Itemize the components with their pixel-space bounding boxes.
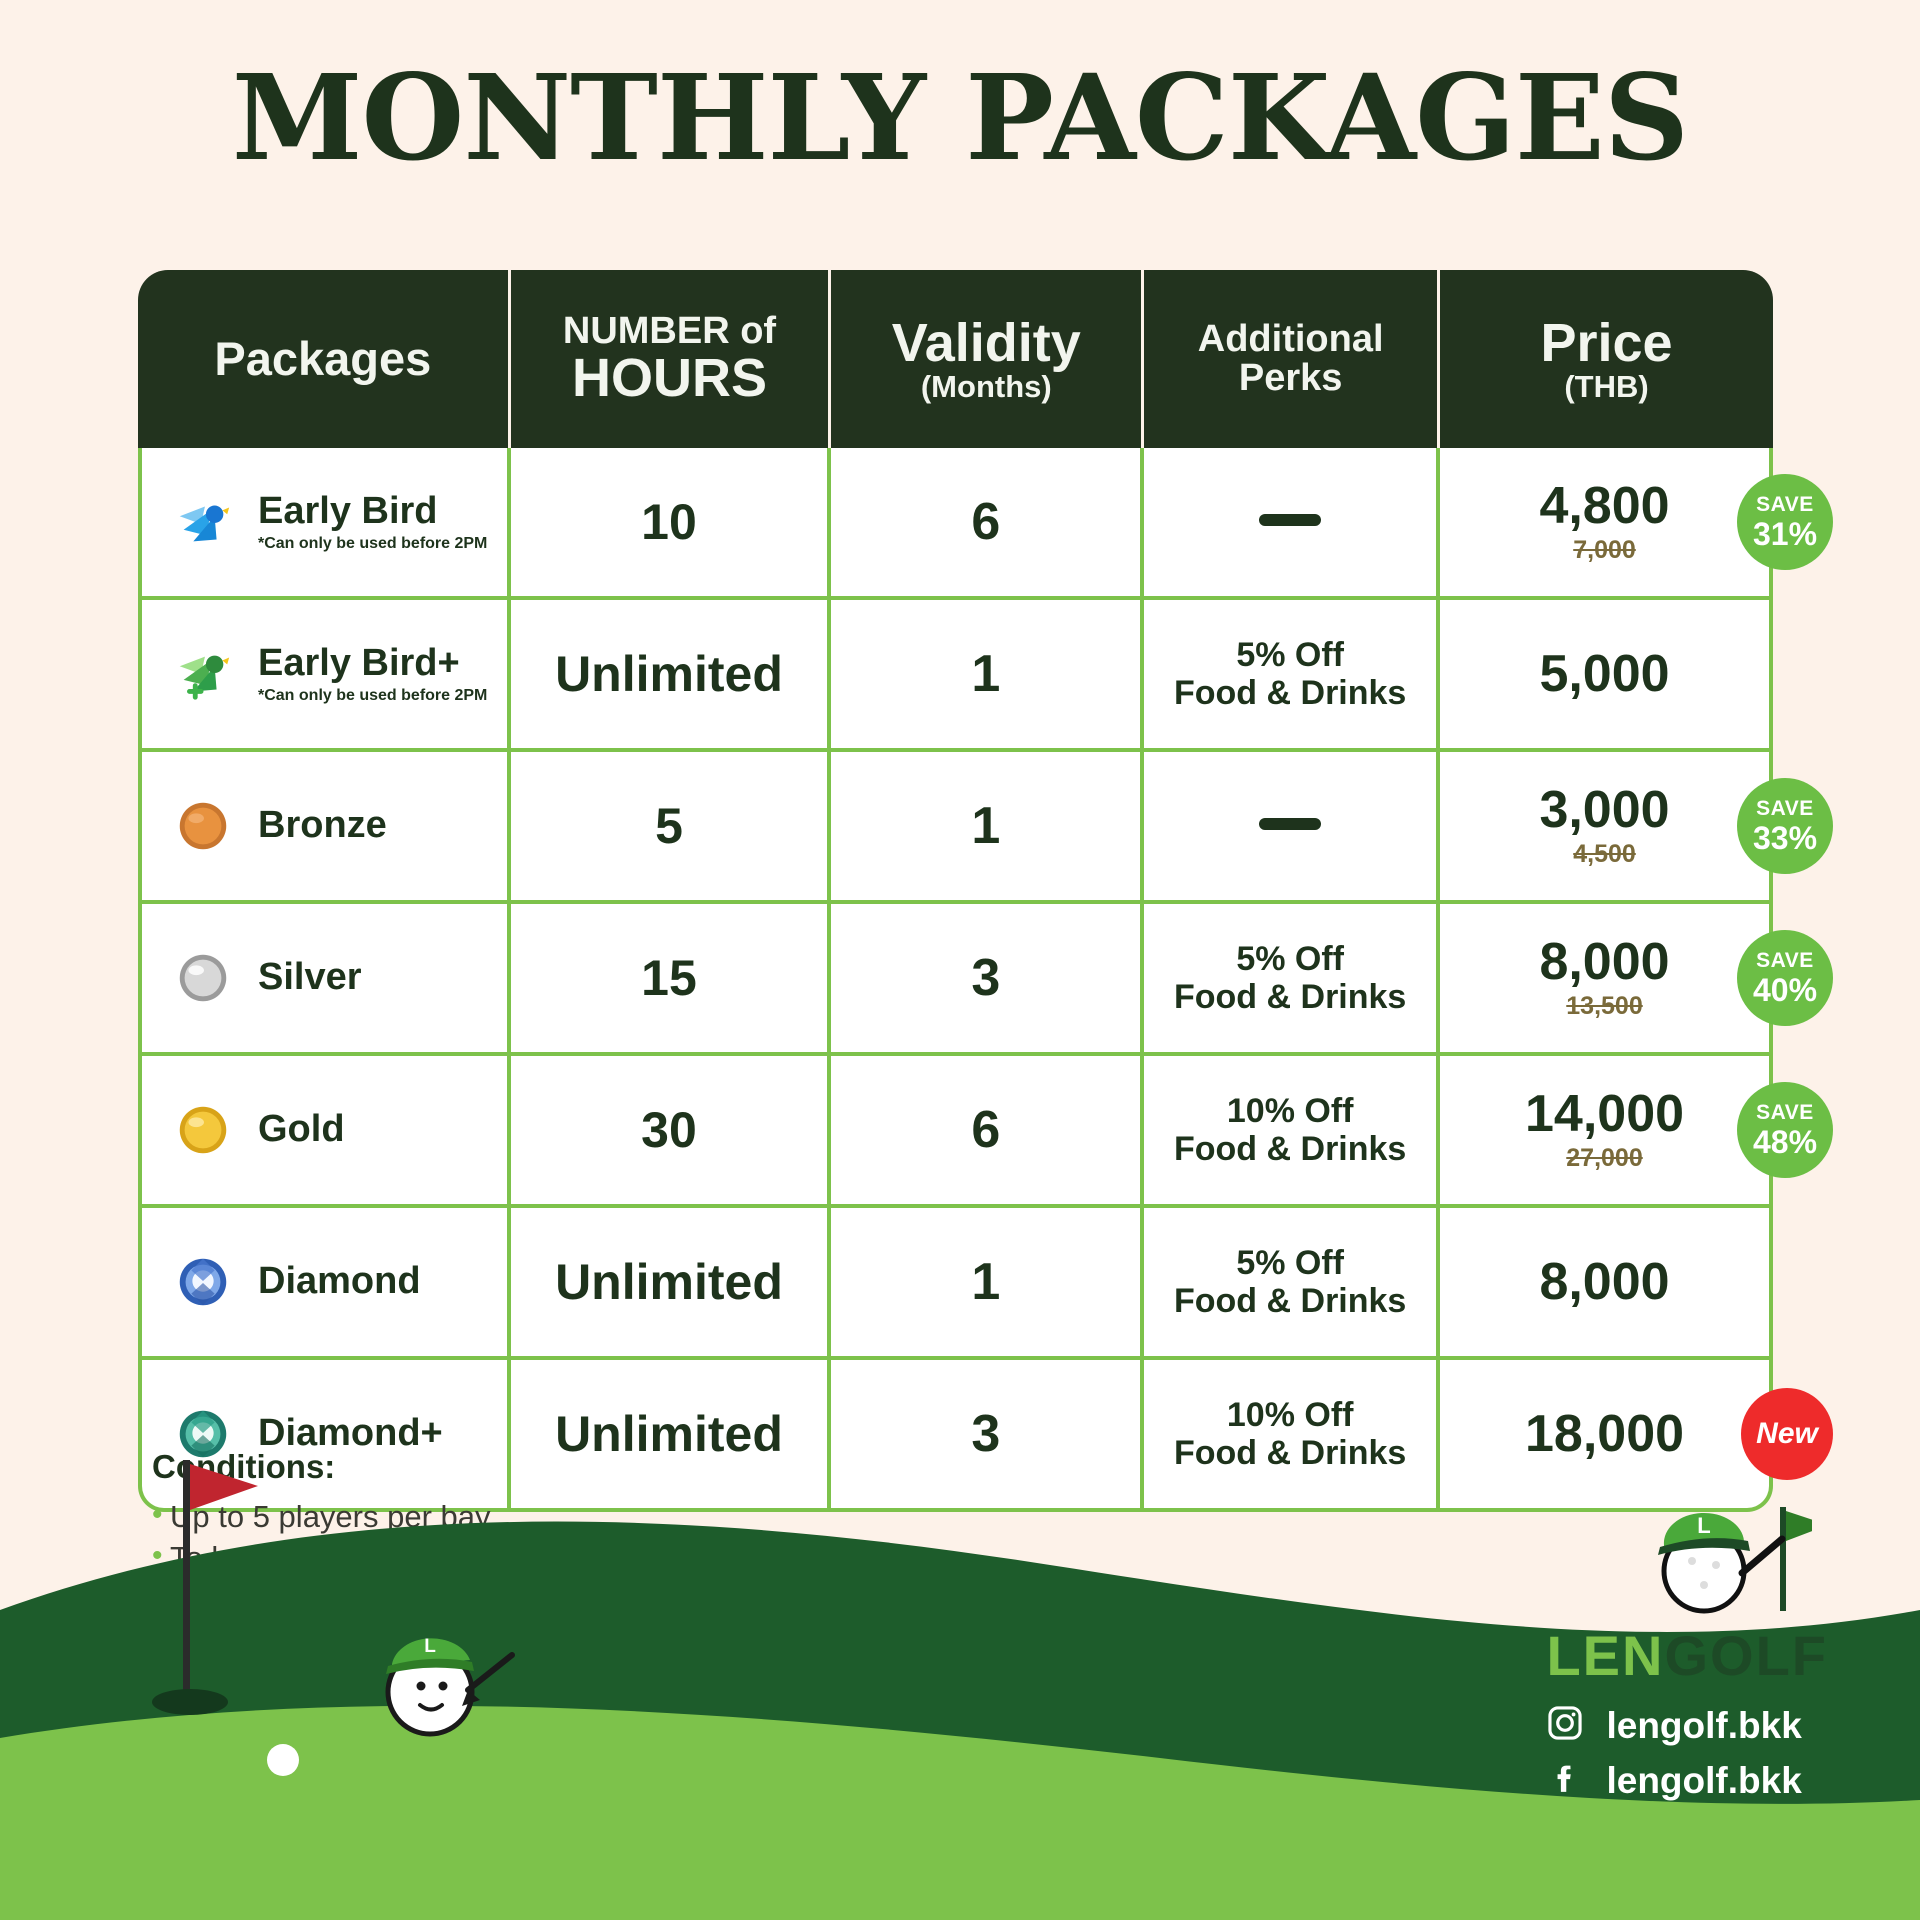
package-name: Early Bird+	[258, 643, 487, 685]
package-name-block: Silver	[258, 957, 362, 999]
price-value: 8,000	[1440, 935, 1769, 990]
perk-scope: Food & Drinks	[1144, 1130, 1436, 1168]
cell-price: 3,0004,500SAVE33%	[1440, 752, 1773, 904]
medal-bronze-icon	[172, 795, 234, 857]
price-value: 8,000	[1440, 1255, 1769, 1310]
package-name: Diamond	[258, 1261, 421, 1303]
table-row: Bronze513,0004,500SAVE33%	[138, 752, 1773, 904]
package-name-block: Gold	[258, 1109, 345, 1151]
svg-text:L: L	[424, 1636, 436, 1657]
package-name-block: Diamond	[258, 1261, 421, 1303]
cell-validity: 3	[831, 904, 1144, 1056]
cell-package: Early Bird*Can only be used before 2PM	[138, 448, 511, 600]
header-validity-label: Validity	[831, 316, 1141, 371]
bird-green-icon	[172, 643, 234, 705]
cell-perks: 5% OffFood & Drinks	[1144, 904, 1440, 1056]
header-hours: NUMBER of HOURS	[511, 270, 832, 448]
header-price-label: Price	[1440, 316, 1773, 371]
cell-validity: 1	[831, 600, 1144, 752]
perk-discount: 10% Off	[1144, 1092, 1436, 1130]
no-perks-dash-icon	[1259, 818, 1321, 830]
table-row: Early Bird*Can only be used before 2PM10…	[138, 448, 1773, 600]
facebook-handle[interactable]: lengolf.bkk	[1606, 1760, 1801, 1802]
packages-table-container: Packages NUMBER of HOURS Validity (Month…	[138, 270, 1773, 1512]
price-value: 5,000	[1440, 647, 1769, 702]
cell-price: 8,000	[1440, 1208, 1773, 1360]
package-note: *Can only be used before 2PM	[258, 535, 487, 553]
cell-package: Early Bird+*Can only be used before 2PM	[138, 600, 511, 752]
svg-text:L: L	[1698, 1513, 1711, 1538]
cell-price: 5,000	[1440, 600, 1773, 752]
perk-discount: 5% Off	[1144, 940, 1436, 978]
cell-perks: 5% OffFood & Drinks	[1144, 600, 1440, 752]
price-value: 3,000	[1440, 783, 1769, 838]
cell-validity: 6	[831, 1056, 1144, 1208]
cell-package: Gold	[138, 1056, 511, 1208]
social-links: lengolf.bkk lengolf.bkk	[1546, 1704, 1828, 1802]
perk-discount: 5% Off	[1144, 636, 1436, 674]
cell-perks	[1144, 752, 1440, 904]
perk-scope: Food & Drinks	[1144, 1282, 1436, 1320]
package-name-block: Early Bird+*Can only be used before 2PM	[258, 643, 487, 705]
packages-table: Packages NUMBER of HOURS Validity (Month…	[138, 270, 1773, 1512]
table-header: Packages NUMBER of HOURS Validity (Month…	[138, 270, 1773, 448]
cell-package: Bronze	[138, 752, 511, 904]
table-row: Early Bird+*Can only be used before 2PMU…	[138, 600, 1773, 752]
header-perks-line1: Additional	[1144, 320, 1437, 359]
table-row: Gold30610% OffFood & Drinks14,00027,000S…	[138, 1056, 1773, 1208]
medal-silver-icon	[172, 947, 234, 1009]
header-perks-line2: Perks	[1144, 359, 1437, 398]
facebook-icon[interactable]	[1546, 1759, 1584, 1802]
save-badge-label: SAVE	[1756, 494, 1814, 515]
package-name-block: Early Bird*Can only be used before 2PM	[258, 491, 487, 553]
brand-golf: GOLF	[1664, 1624, 1828, 1687]
lengolf-logo-icon: L	[1632, 1499, 1828, 1624]
cell-perks: 5% OffFood & Drinks	[1144, 1208, 1440, 1360]
facebook-row[interactable]: lengolf.bkk	[1546, 1759, 1828, 1802]
header-validity-sub: (Months)	[831, 371, 1141, 403]
instagram-row[interactable]: lengolf.bkk	[1546, 1704, 1828, 1747]
instagram-handle[interactable]: lengolf.bkk	[1606, 1705, 1801, 1747]
header-perks: Additional Perks	[1144, 270, 1440, 448]
price-original: 7,000	[1440, 536, 1769, 565]
package-name: Early Bird	[258, 491, 487, 533]
header-hours-line2: HOURS	[511, 351, 829, 406]
perk-scope: Food & Drinks	[1144, 978, 1436, 1016]
brand-len: LEN	[1546, 1624, 1664, 1687]
header-packages-label: Packages	[138, 335, 508, 383]
header-packages: Packages	[138, 270, 511, 448]
cell-perks: 10% OffFood & Drinks	[1144, 1056, 1440, 1208]
page-title: MONTHLY PACKAGES	[0, 0, 1920, 180]
table-row: Silver1535% OffFood & Drinks8,00013,500S…	[138, 904, 1773, 1056]
save-badge: SAVE33%	[1737, 778, 1833, 874]
table-row: DiamondUnlimited15% OffFood & Drinks8,00…	[138, 1208, 1773, 1360]
package-name: Silver	[258, 957, 362, 999]
package-name-block: Bronze	[258, 805, 387, 847]
gem-blue-icon	[172, 1251, 234, 1313]
price-value: 4,800	[1440, 479, 1769, 534]
package-note: *Can only be used before 2PM	[258, 687, 487, 705]
cell-price: 14,00027,000SAVE48%	[1440, 1056, 1773, 1208]
cell-hours: 10	[511, 448, 832, 600]
save-badge-percent: 31%	[1753, 518, 1817, 550]
cell-validity: 1	[831, 1208, 1144, 1360]
save-badge: SAVE48%	[1737, 1082, 1833, 1178]
header-row: Packages NUMBER of HOURS Validity (Month…	[138, 270, 1773, 448]
cell-hours: 15	[511, 904, 832, 1056]
price-original: 27,000	[1440, 1144, 1769, 1173]
save-badge-percent: 33%	[1753, 822, 1817, 854]
header-price: Price (THB)	[1440, 270, 1773, 448]
cell-hours: 30	[511, 1056, 832, 1208]
save-badge-percent: 40%	[1753, 974, 1817, 1006]
cell-validity: 1	[831, 752, 1144, 904]
brand-wordmark: LENGOLF	[1546, 1628, 1828, 1684]
no-perks-dash-icon	[1259, 514, 1321, 526]
save-badge-percent: 48%	[1753, 1126, 1817, 1158]
save-badge: SAVE31%	[1737, 474, 1833, 570]
cell-perks	[1144, 448, 1440, 600]
cell-validity: 6	[831, 448, 1144, 600]
medal-gold-icon	[172, 1099, 234, 1161]
save-badge-label: SAVE	[1756, 950, 1814, 971]
price-original: 4,500	[1440, 840, 1769, 869]
save-badge: SAVE40%	[1737, 930, 1833, 1026]
header-validity: Validity (Months)	[831, 270, 1144, 448]
cell-price: 8,00013,500SAVE40%	[1440, 904, 1773, 1056]
cell-hours: 5	[511, 752, 832, 904]
brand-block: L LENGOLF lengolf.bkk lengolf.bkk	[1546, 1499, 1828, 1802]
perk-scope: Food & Drinks	[1144, 674, 1436, 712]
new-badge: New	[1741, 1388, 1833, 1480]
perk-discount: 5% Off	[1144, 1244, 1436, 1282]
cell-package: Silver	[138, 904, 511, 1056]
cell-hours: Unlimited	[511, 600, 832, 752]
cell-package: Diamond	[138, 1208, 511, 1360]
save-badge-label: SAVE	[1756, 1102, 1814, 1123]
instagram-icon[interactable]	[1546, 1704, 1584, 1747]
cell-price: 4,8007,000SAVE31%	[1440, 448, 1773, 600]
package-name: Gold	[258, 1109, 345, 1151]
header-hours-line1: NUMBER of	[511, 312, 829, 351]
bird-blue-icon	[172, 491, 234, 553]
table-body: Early Bird*Can only be used before 2PM10…	[138, 448, 1773, 1512]
price-original: 13,500	[1440, 992, 1769, 1021]
price-value: 14,000	[1440, 1087, 1769, 1142]
package-name: Bronze	[258, 805, 387, 847]
header-price-sub: (THB)	[1440, 371, 1773, 403]
save-badge-label: SAVE	[1756, 798, 1814, 819]
cell-hours: Unlimited	[511, 1208, 832, 1360]
